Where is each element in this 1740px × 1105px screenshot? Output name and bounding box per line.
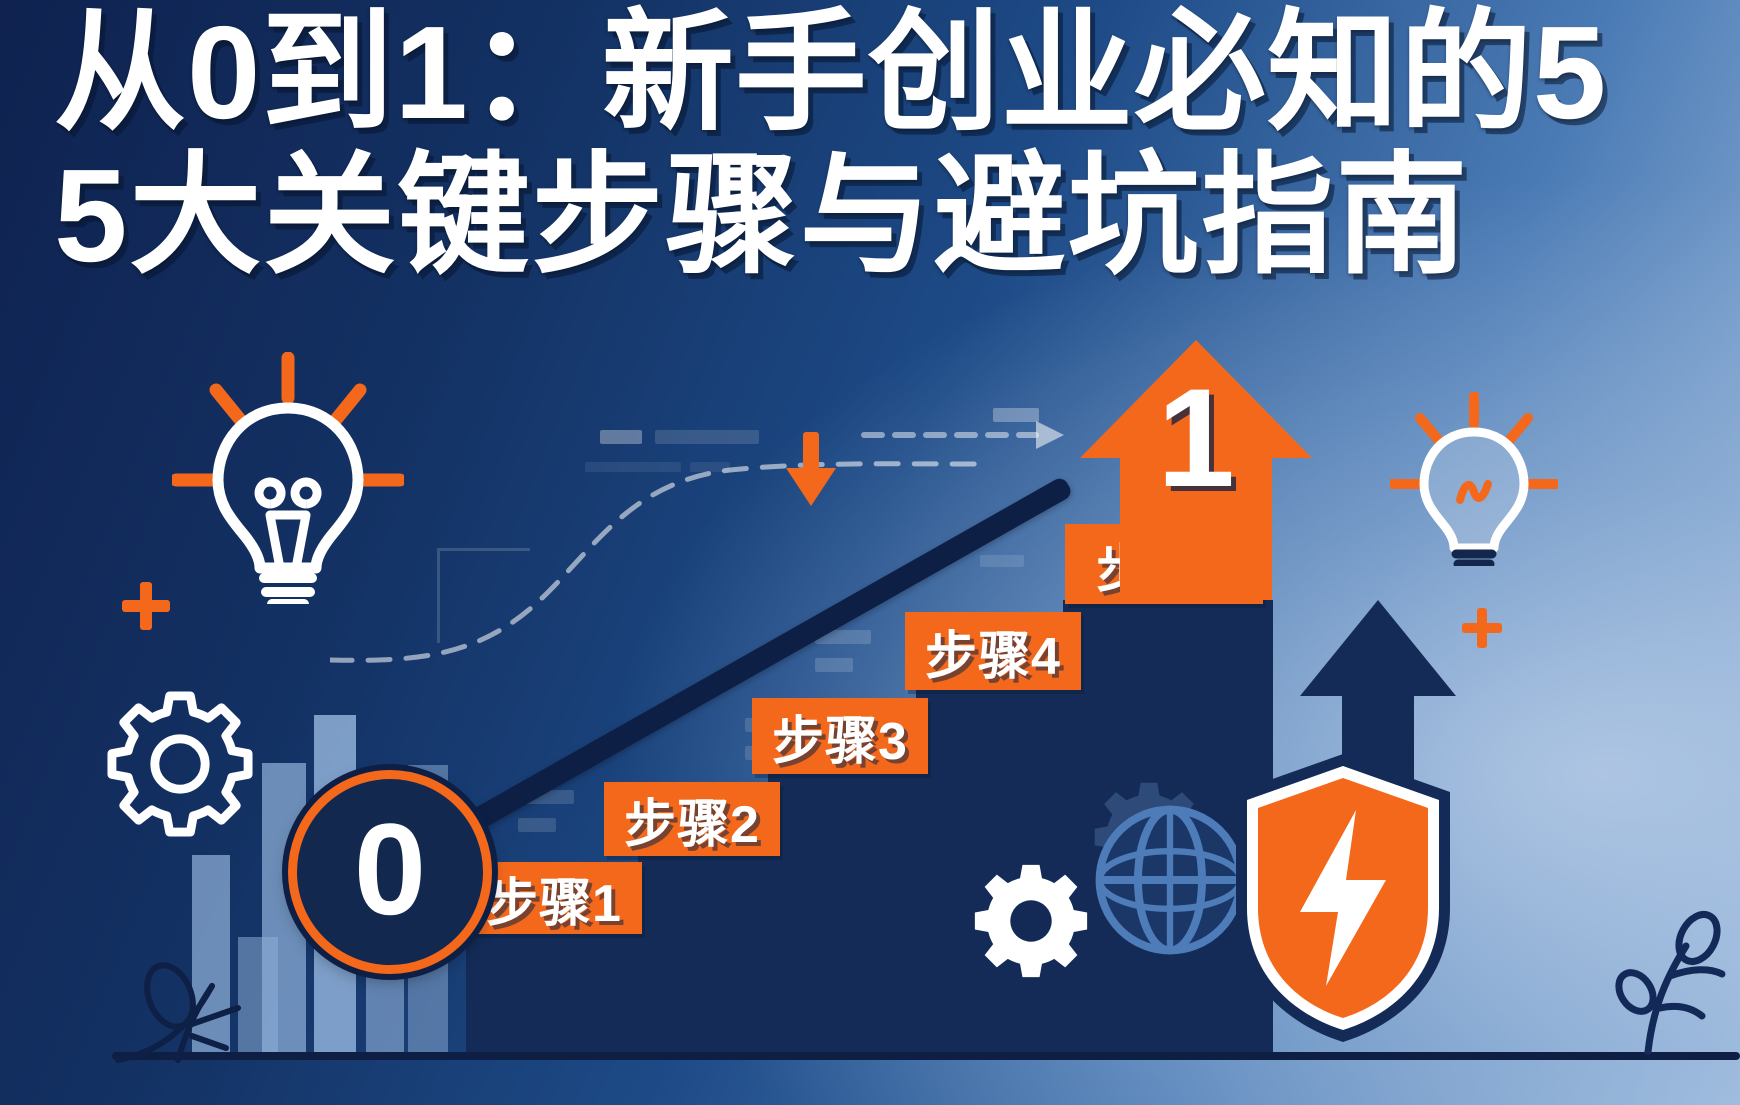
start-badge-label: 0 [354,804,426,934]
step-label-2: 步骤2 [624,782,760,857]
gear-icon [970,860,1092,982]
gear-icon [106,690,254,838]
arrow-down-icon [782,432,840,508]
title-line-1: 从0到1：新手创业必知的5 [54,2,1714,145]
step-riser-1[interactable]: 步骤1 [466,862,642,934]
infographic-poster: 步骤1 步骤2 步骤3 步骤4 步骤5 0 1 [0,0,1740,1105]
step-riser-3[interactable]: 步骤3 [752,698,928,774]
shield-bolt-icon [1228,748,1458,1048]
plant-sprig-icon [1600,910,1740,1055]
step-riser-4[interactable]: 步骤4 [905,612,1081,690]
end-arrow-one: 1 [1080,340,1312,600]
step-label-1: 步骤1 [486,861,622,936]
step-label-3: 步骤3 [772,699,908,774]
page-title: 从0到1：新手创业必知的5 5大关键步骤与避坑指南 [54,2,1714,287]
step-riser-2[interactable]: 步骤2 [604,782,780,856]
start-badge-zero: 0 [288,770,492,974]
lightbulb-icon [1390,392,1558,566]
plus-icon [122,582,170,630]
stair-tread [768,772,933,1060]
end-badge-label: 1 [1080,368,1312,508]
globe-icon [1090,800,1250,960]
plus-icon [1462,608,1502,648]
stair-tread [466,930,638,1060]
step-label-4: 步骤4 [925,614,1061,689]
title-line-2: 5大关键步骤与避坑指南 [54,145,1714,288]
lightbulb-icon [172,352,404,604]
ground-line [112,1052,1740,1060]
plant-sprig-icon [108,960,298,1065]
